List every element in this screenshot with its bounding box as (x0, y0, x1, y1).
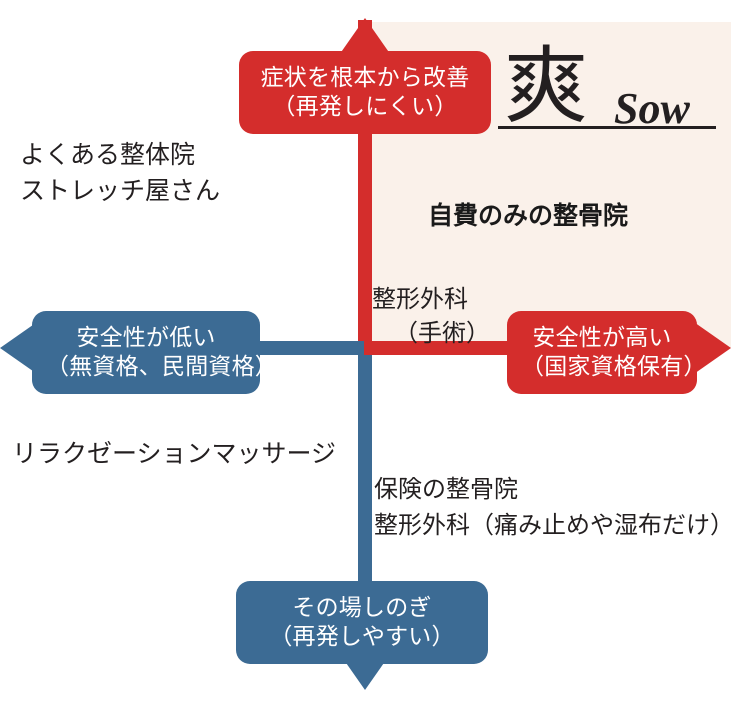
axis-label-top: 症状を根本から改善 （再発しにくい） (239, 51, 491, 134)
plot-label-upper-left: よくある整体院 ストレッチ屋さん (20, 138, 220, 209)
plot-label-upper-right: 自費のみの整骨院 (428, 199, 628, 235)
axis-label-right-line1: 安全性が高い (521, 323, 683, 352)
positioning-matrix-diagram: 症状を根本から改善 （再発しにくい） その場しのぎ （再発しやすい） 安全性が低… (0, 0, 731, 708)
axis-label-left: 安全性が低い （無資格、民間資格） (32, 311, 260, 394)
axis-label-right-line2: （国家資格保有） (521, 352, 683, 381)
axis-label-bottom: その場しのぎ （再発しやすい） (236, 581, 488, 664)
axis-label-left-line2: （無資格、民間資格） (46, 352, 246, 381)
axis-label-top-line1: 症状を根本から改善 (253, 63, 477, 92)
plot-upper-left-line2: ストレッチ屋さん (20, 174, 220, 210)
plot-label-center: 整形外科 （手術） (372, 283, 490, 351)
brand-logo: 爽 Sow (496, 35, 718, 140)
plot-center-line2: （手術） (372, 317, 490, 351)
axis-label-top-line2: （再発しにくい） (253, 92, 477, 121)
axis-label-right: 安全性が高い （国家資格保有） (507, 311, 697, 394)
logo-kanji-text: 爽 (504, 37, 588, 135)
plot-lower-right-line2: 整形外科（痛み止めや湿布だけ） (374, 508, 731, 544)
plot-lower-right-line1: 保険の整骨院 (374, 472, 731, 508)
logo-romaji-text: Sow (614, 84, 690, 133)
plot-center-line1: 整形外科 (372, 283, 490, 317)
axis-label-bottom-line2: （再発しやすい） (250, 622, 474, 651)
axis-label-bottom-line1: その場しのぎ (250, 593, 474, 622)
plot-lower-left-line1: リラクゼーションマッサージ (12, 437, 336, 473)
logo-underline (498, 126, 716, 129)
axis-label-left-line1: 安全性が低い (46, 323, 246, 352)
plot-label-lower-left: リラクゼーションマッサージ (12, 437, 336, 473)
plot-upper-right-line1: 自費のみの整骨院 (428, 199, 628, 235)
plot-upper-left-line1: よくある整体院 (20, 138, 220, 174)
plot-label-lower-right: 保険の整骨院 整形外科（痛み止めや湿布だけ） (374, 472, 731, 545)
